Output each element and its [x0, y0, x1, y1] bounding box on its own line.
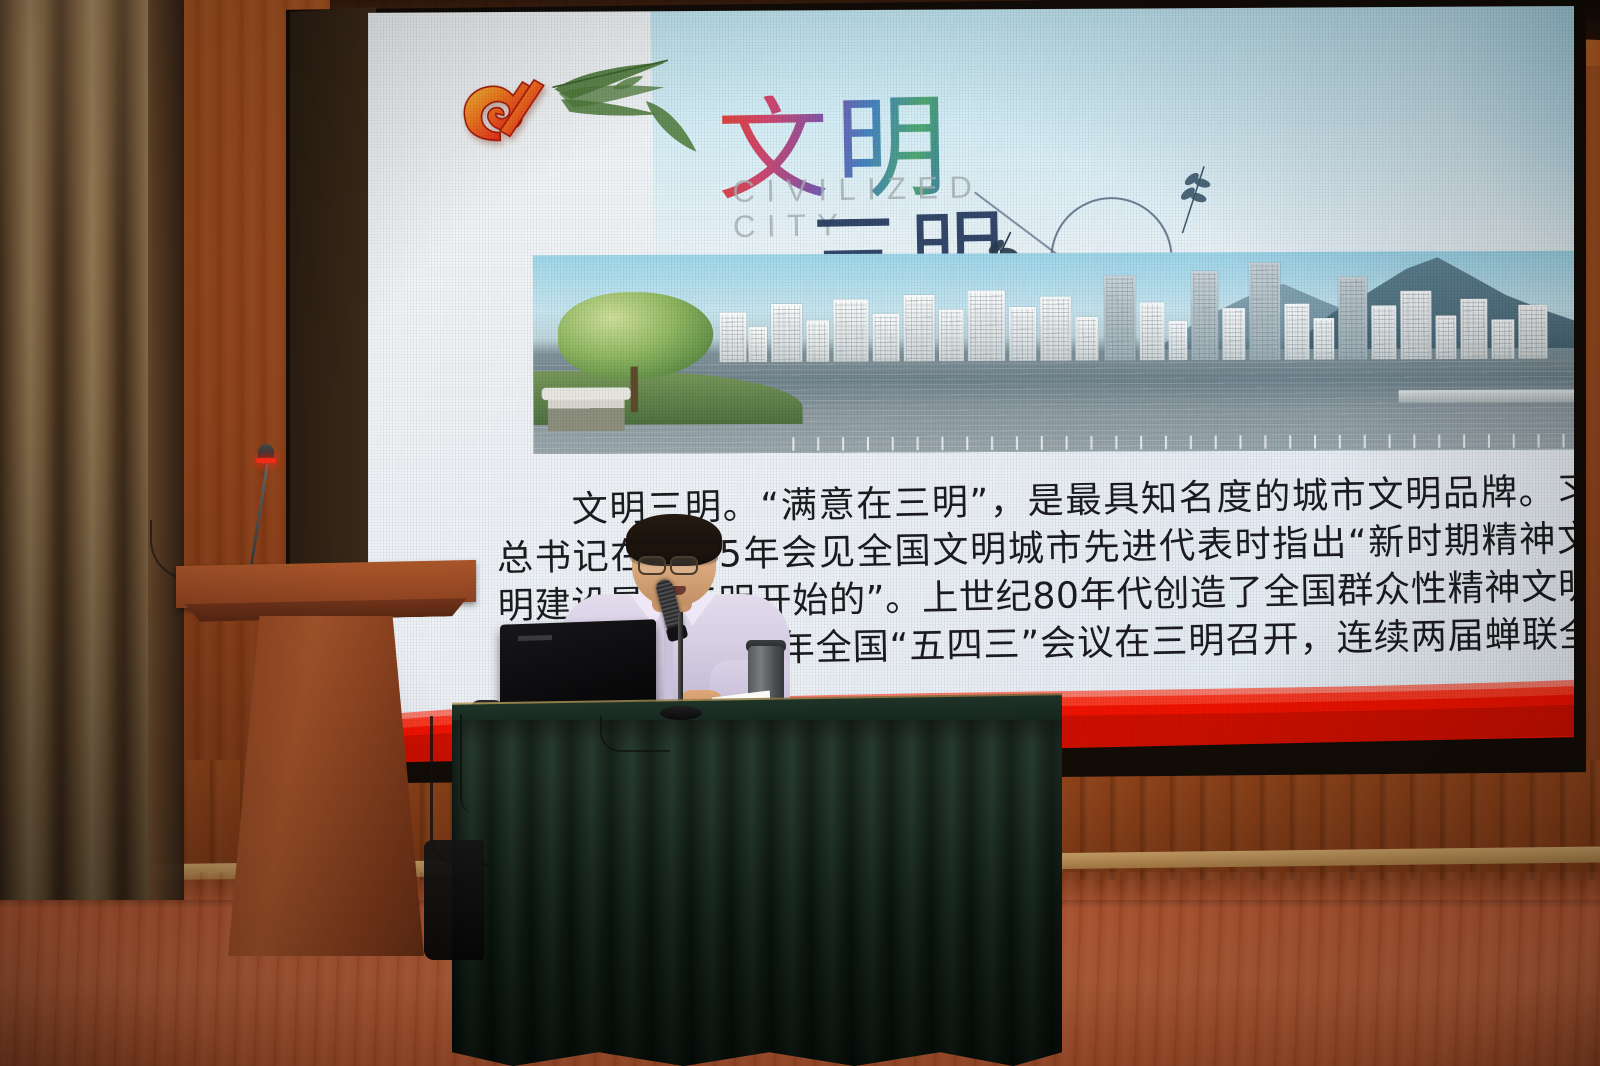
- wheat-sprig-icon: [1163, 162, 1218, 237]
- power-cable-2: [460, 714, 490, 814]
- bridge: [1399, 389, 1574, 402]
- stage-curtain: [0, 0, 152, 900]
- bamboo-leaf-small-icon: [642, 96, 705, 157]
- eyeglasses-right-lens: [670, 556, 698, 575]
- city-panorama-photo: [533, 251, 1574, 454]
- laptop-brand-logo: [518, 635, 552, 641]
- presentation-photo-scene: 文明 CIVILIZED CITY 三明: [0, 0, 1600, 1066]
- eyeglasses-left-lens: [638, 556, 666, 575]
- bag-under-table: [424, 840, 484, 960]
- bamboo-leaf-tiny-icon: [610, 73, 646, 94]
- pavilion: [548, 396, 625, 432]
- eyeglasses-bridge: [666, 564, 672, 566]
- lectern-base: [228, 616, 424, 956]
- curtain-edge-shadow: [148, 0, 184, 900]
- table-microphone-stem: [678, 612, 683, 712]
- dark-green-table-skirt: [452, 720, 1062, 1066]
- power-cable-3: [600, 716, 670, 752]
- microphone-status-led: [256, 458, 276, 463]
